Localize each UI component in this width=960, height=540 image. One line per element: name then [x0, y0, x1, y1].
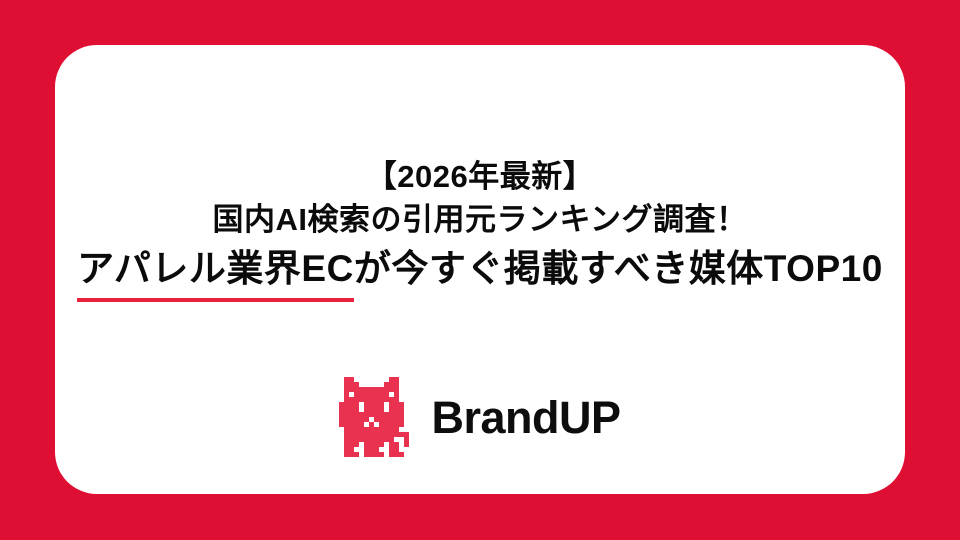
- title-line-3-rest: が今すぐ掲載すべき媒体TOP10: [354, 248, 883, 289]
- brand-logo: BrandUP: [55, 377, 905, 457]
- title-emphasis-underlined: アパレル業界EC: [77, 243, 354, 298]
- title-line-2: 国内AI検索の引用元ランキング調査！: [55, 198, 905, 241]
- content-card: 【2026年最新】 国内AI検索の引用元ランキング調査！ アパレル業界ECが今す…: [55, 45, 905, 494]
- title-line-3: アパレル業界ECが今すぐ掲載すべき媒体TOP10: [55, 243, 905, 298]
- title-line-1: 【2026年最新】: [55, 155, 905, 198]
- pixel-cat-icon: [339, 377, 409, 457]
- brand-wordmark: BrandUP: [431, 395, 620, 440]
- title-block: 【2026年最新】 国内AI検索の引用元ランキング調査！ アパレル業界ECが今す…: [55, 155, 905, 298]
- slide-canvas: 【2026年最新】 国内AI検索の引用元ランキング調査！ アパレル業界ECが今す…: [0, 0, 960, 540]
